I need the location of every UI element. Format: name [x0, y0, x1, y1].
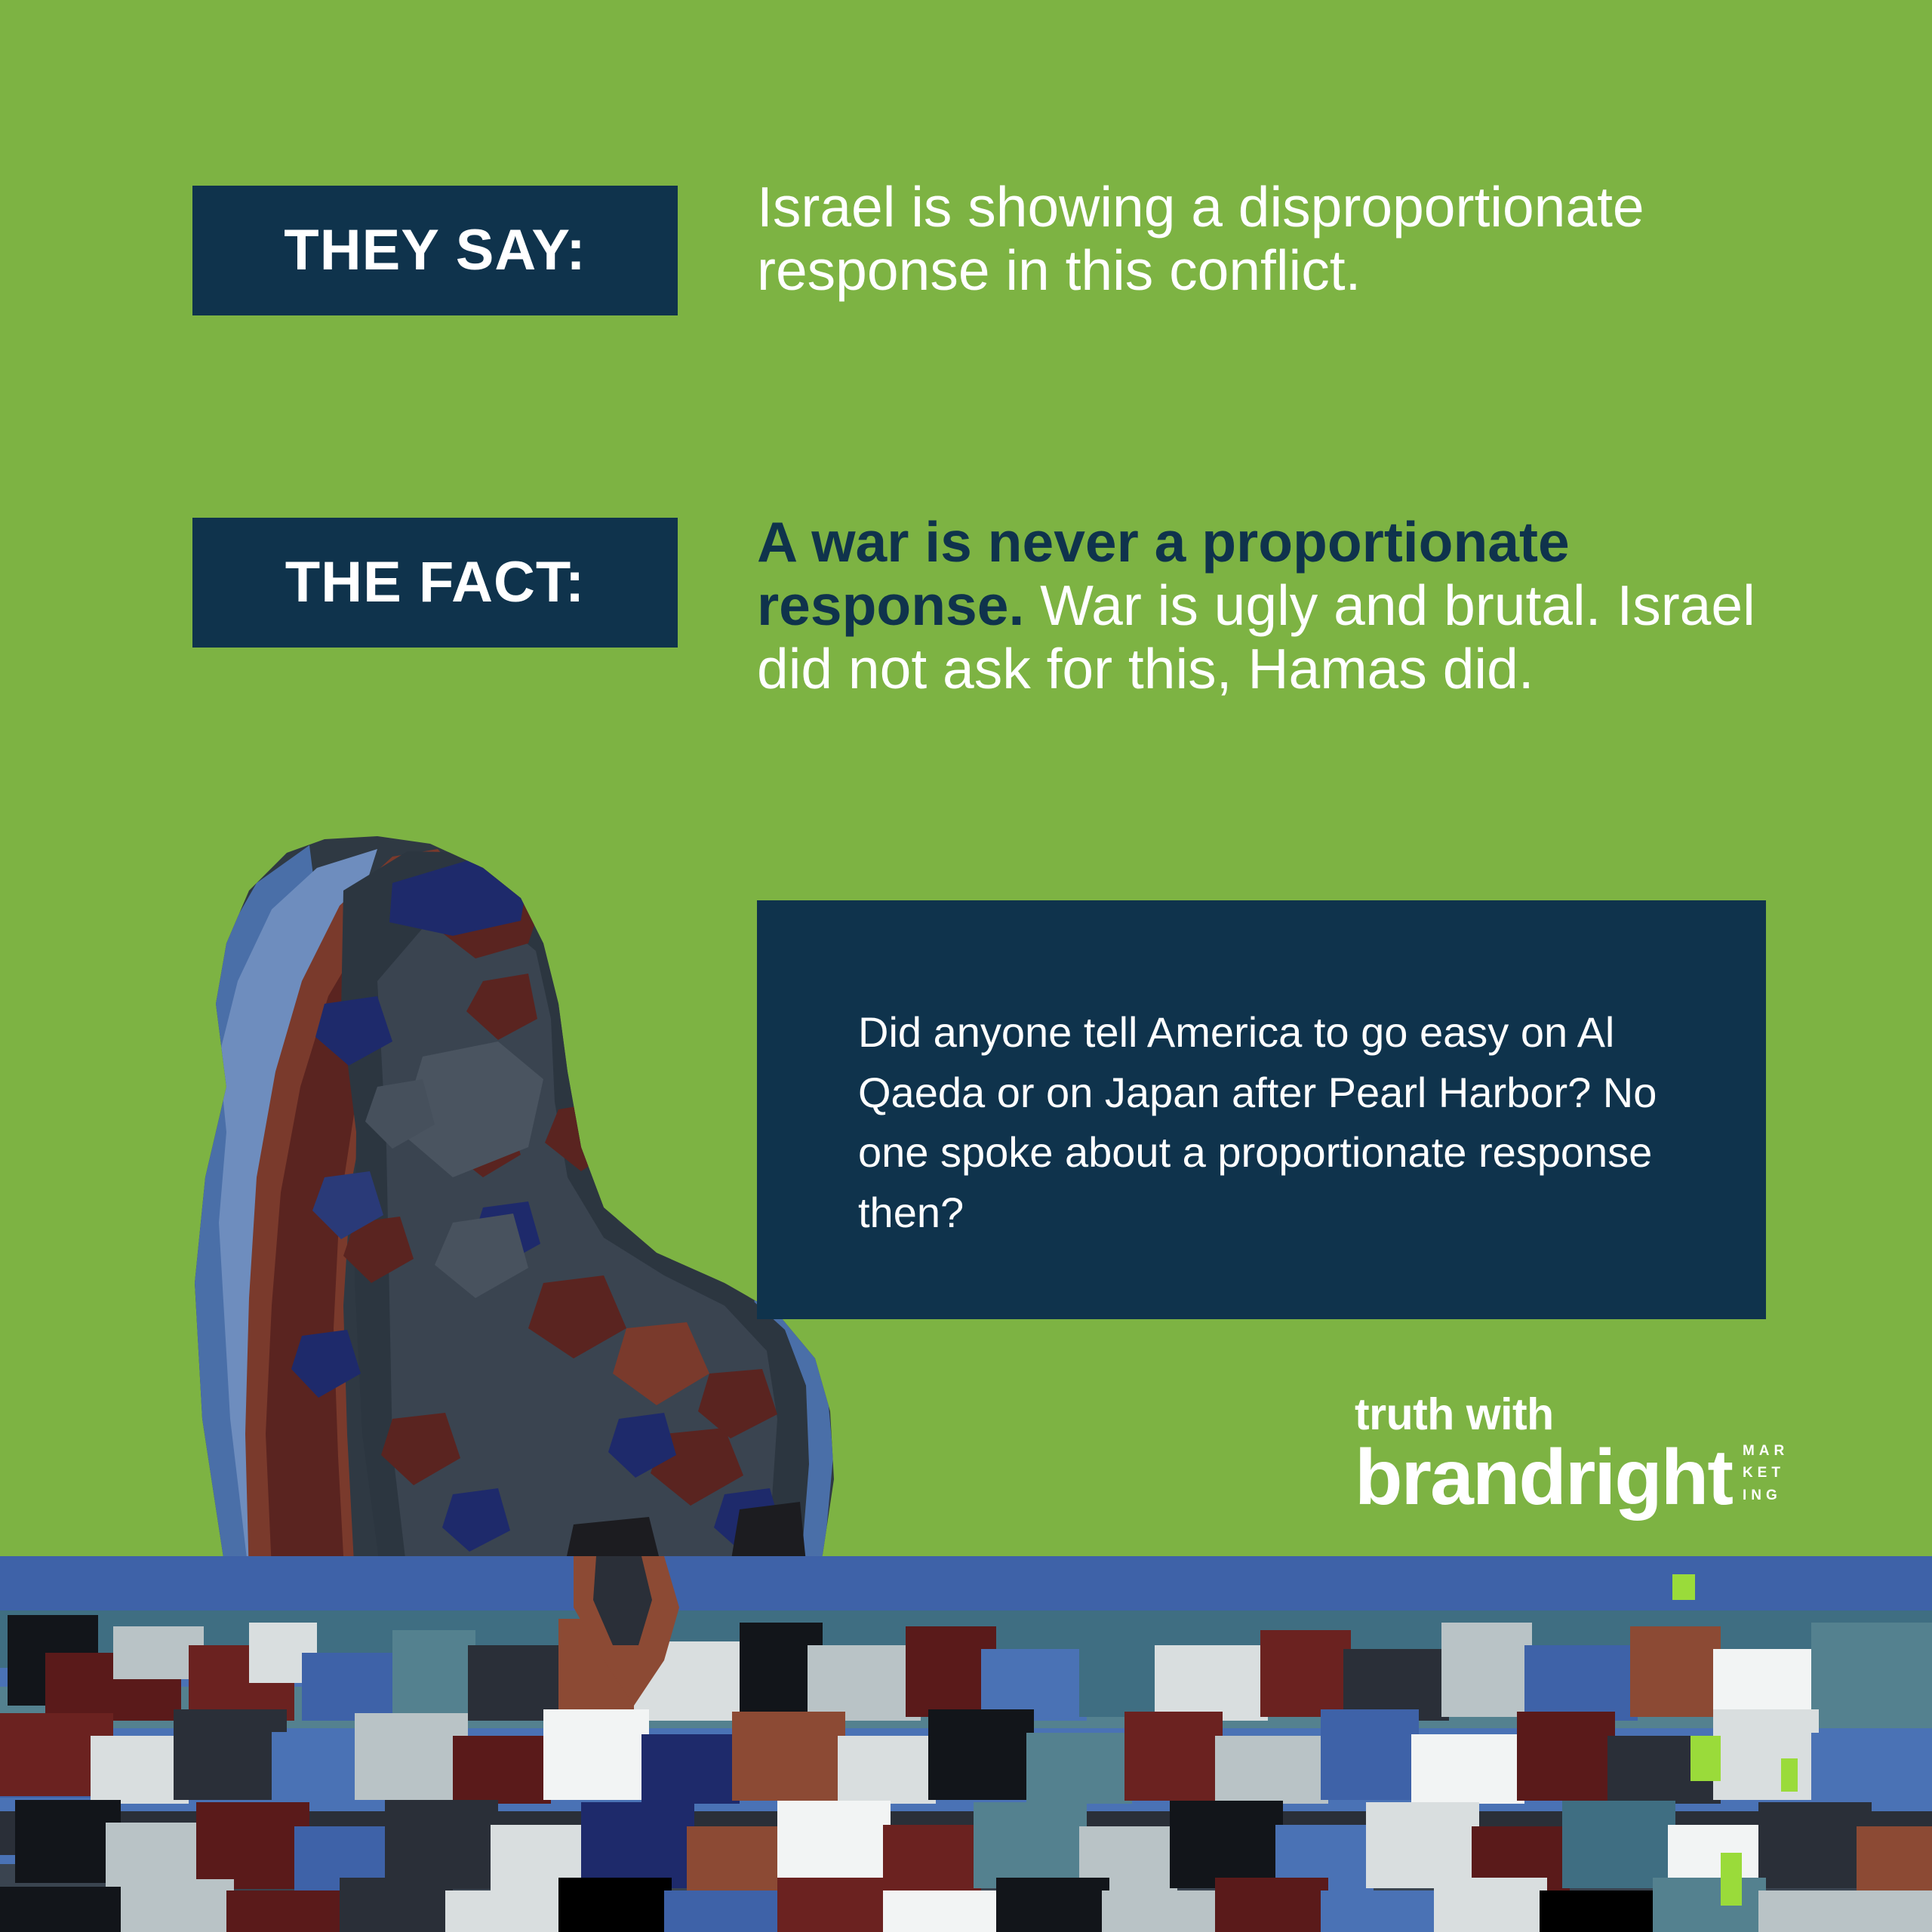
cityscape: [0, 1556, 1932, 1932]
the-fact-body-text: A war is never a proportionate response.…: [757, 510, 1814, 700]
logo-descriptor-line-3: ING: [1743, 1484, 1789, 1506]
logo-wordmark: brandright: [1355, 1442, 1732, 1515]
logo-descriptor-line-1: MAR: [1743, 1440, 1789, 1462]
logo-descriptor-line-2: KET: [1743, 1462, 1789, 1484]
quote-panel: Did anyone tell America to go easy on Al…: [757, 900, 1766, 1319]
horizon-band: [0, 1556, 1932, 1647]
they-say-label: THEY SAY:: [284, 222, 586, 279]
logo-main-row: brandright MAR KET ING: [1355, 1440, 1777, 1514]
the-fact-label-chip: THE FACT:: [192, 518, 678, 648]
the-fact-label: THE FACT:: [285, 554, 585, 611]
quote-panel-text: Did anyone tell America to go easy on Al…: [858, 1002, 1658, 1242]
they-say-body-text: Israel is showing a disproportionate res…: [757, 175, 1761, 302]
logo-descriptor: MAR KET ING: [1743, 1440, 1789, 1506]
logo-tagline: truth with: [1355, 1392, 1777, 1437]
they-say-label-chip: THEY SAY:: [192, 186, 678, 315]
brandright-logo: truth with brandright MAR KET ING: [1355, 1392, 1777, 1517]
poster-canvas: THEY SAY: Israel is showing a disproport…: [0, 0, 1932, 1932]
